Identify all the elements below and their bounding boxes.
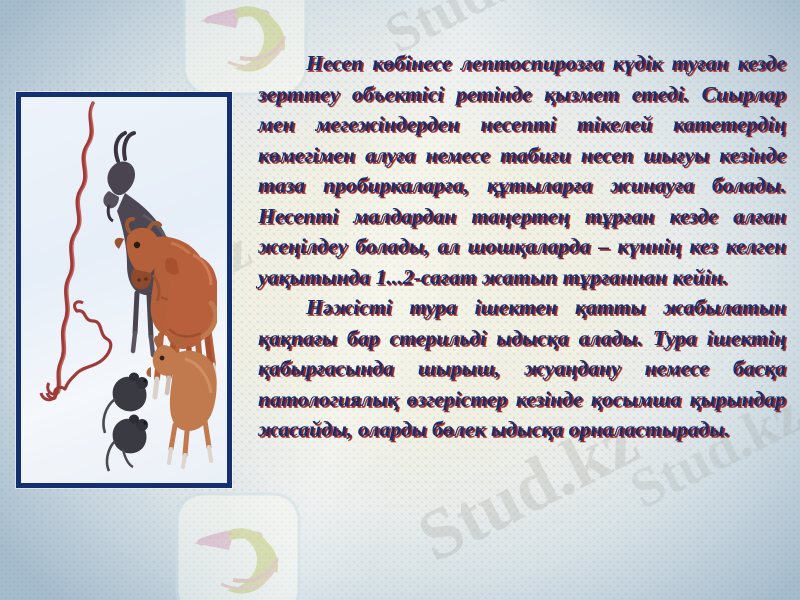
illustration-image — [21, 97, 227, 483]
paragraph-2: Нәжісті тура ішектен қатты жабылатын қақ… — [258, 292, 786, 445]
presentation-slide: Stud.kz Stud.kz Stud.kz Stud.kz — [0, 0, 800, 600]
slide-body-text: Несеп көбінесе лептоспирозға күдік туған… — [258, 48, 786, 445]
illustration-frame — [16, 92, 232, 488]
paragraph-1: Несеп көбінесе лептоспирозға күдік туған… — [258, 48, 786, 292]
hummingbird-logo-icon — [163, 480, 313, 600]
